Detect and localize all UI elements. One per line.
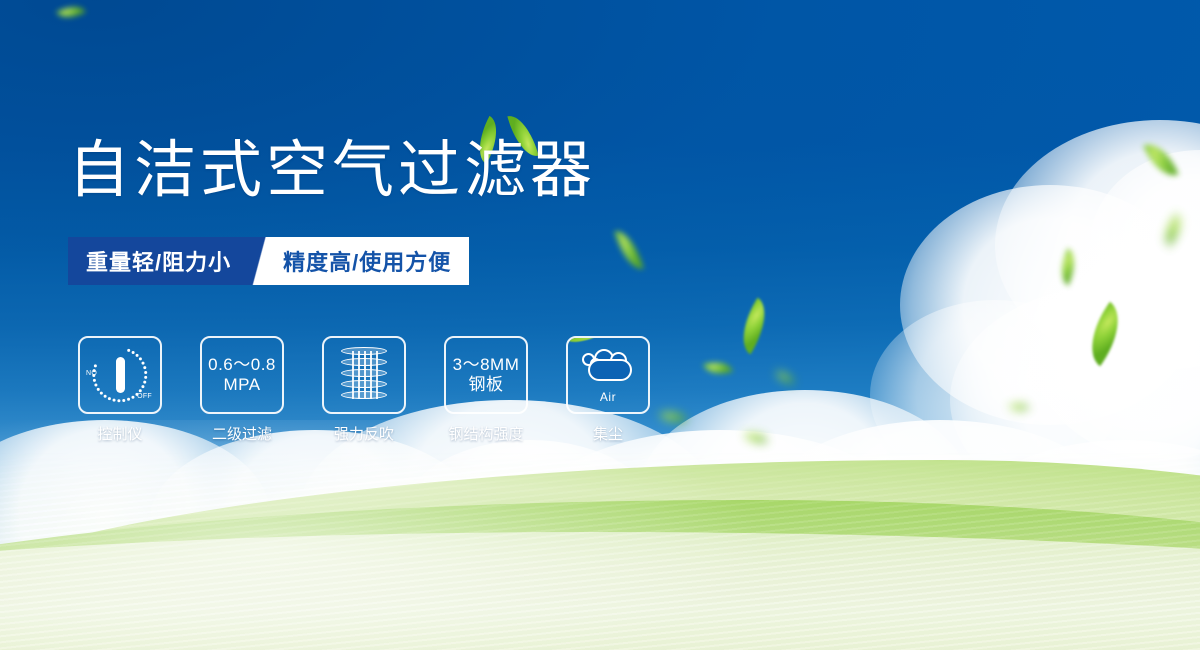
feature-icon-box: 3〜8MM 钢板	[444, 336, 528, 414]
gauge-dot	[142, 362, 145, 365]
gauge-dot	[93, 379, 96, 382]
feature-item-pressure[interactable]: 0.6〜0.8 MPA 二级过滤	[200, 336, 284, 444]
gauge-dot	[131, 396, 134, 399]
gauge-dot	[100, 392, 103, 395]
coil-bar	[358, 351, 360, 399]
gauge-dot	[127, 398, 130, 401]
coil-filter-icon	[341, 347, 387, 403]
feature-icon-row: NO OFF 控制仪 0.6〜0.8 MPA 二级过滤	[78, 336, 650, 444]
grass-hill-near	[0, 532, 1200, 650]
feature-label: 集尘	[593, 423, 623, 444]
gauge-dot	[94, 384, 97, 387]
gauge-dot	[144, 371, 147, 374]
gauge-dot	[143, 366, 146, 369]
subtitle-bar: 重量轻/阻力小 精度高/使用方便	[68, 237, 469, 285]
gauge-dot	[94, 364, 97, 367]
steel-value-line1: 3〜8MM	[453, 355, 520, 375]
subtitle-right-segment: 精度高/使用方便	[275, 237, 469, 285]
steel-value-line2: 钢板	[469, 375, 504, 395]
coil-bar	[364, 351, 366, 399]
gauge-dot	[139, 357, 142, 360]
gauge-dot	[144, 376, 147, 379]
coil-bar	[376, 351, 378, 399]
feature-icon-box: NO OFF	[78, 336, 162, 414]
gauge-dot	[97, 388, 100, 391]
air-label: Air	[600, 390, 616, 404]
gauge-dot	[104, 395, 107, 398]
coil-bar	[370, 351, 372, 399]
feature-item-steel[interactable]: 3〜8MM 钢板 钢结构强度	[444, 336, 528, 444]
gauge-dot	[117, 399, 120, 402]
feature-icon-box	[322, 336, 406, 414]
feature-label: 二级过滤	[212, 423, 272, 444]
feature-icon-box: Air	[566, 336, 650, 414]
page-title: 自洁式空气过滤器	[68, 140, 596, 202]
feature-label: 控制仪	[97, 423, 142, 444]
gauge-dot	[141, 385, 144, 388]
gauge-dot	[108, 397, 111, 400]
coil-bar	[352, 351, 354, 399]
gauge-icon: NO OFF	[89, 346, 151, 404]
gauge-dot	[122, 399, 125, 402]
gauge-dot	[136, 354, 139, 357]
feature-item-controller[interactable]: NO OFF 控制仪	[78, 336, 162, 444]
cloud-body	[588, 359, 632, 381]
subtitle-slash-divider	[247, 237, 275, 285]
feature-label: 钢结构强度	[448, 423, 523, 444]
gauge-dot	[143, 381, 146, 384]
feature-item-backblow[interactable]: 强力反吹	[322, 336, 406, 444]
pressure-value-line2: MPA	[223, 375, 260, 395]
air-cloud-icon	[580, 345, 636, 389]
gauge-dot	[113, 399, 116, 402]
product-hero-banner: 自洁式空气过滤器 重量轻/阻力小 精度高/使用方便 NO OFF 控制仪 0.6…	[0, 0, 1200, 650]
gauge-dot	[132, 351, 135, 354]
feature-icon-box: 0.6〜0.8 MPA	[200, 336, 284, 414]
gauge-off-label: OFF	[137, 393, 152, 400]
pressure-value-line1: 0.6〜0.8	[208, 355, 276, 375]
gauge-no-label: NO	[86, 370, 97, 377]
feature-item-dust[interactable]: Air 集尘	[566, 336, 650, 444]
subtitle-left-segment: 重量轻/阻力小	[68, 237, 247, 285]
gauge-needle	[116, 357, 125, 393]
gauge-dot	[127, 349, 130, 352]
feature-label: 强力反吹	[334, 423, 394, 444]
